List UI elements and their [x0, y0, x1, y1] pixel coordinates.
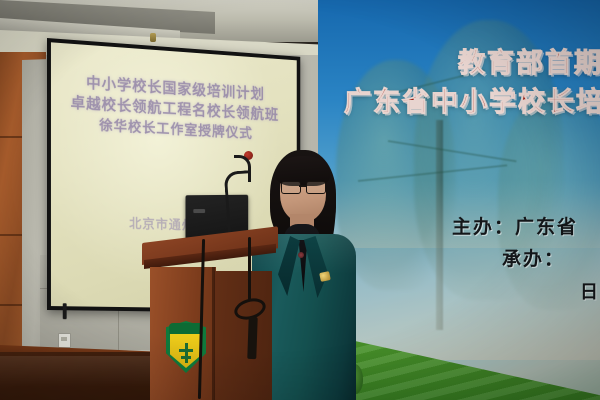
banner-organizer-line-3: 日: [318, 277, 600, 308]
lectern-side-panel: [214, 271, 272, 400]
banner-title-line-1: 教育部首期: [318, 44, 600, 83]
laptop-logo-icon: [193, 209, 205, 213]
wall-outlet[interactable]: [58, 333, 71, 348]
ceiling-sprinkler-icon: [150, 33, 156, 42]
banner-organizer-line-1: 主办：广东省: [318, 212, 600, 244]
cable: [248, 237, 251, 301]
banner-title-line-2: 广东省中小学校长培: [318, 83, 600, 122]
crest-emblem-icon: [179, 343, 193, 363]
banner-organizer-block: 主办：广东省 承办： 日: [318, 212, 600, 307]
lectern-corner-edge: [212, 267, 215, 400]
screen-pull-handle[interactable]: [63, 303, 67, 319]
lectern: [148, 243, 272, 400]
cable-connector: [247, 317, 257, 359]
necklace: [298, 252, 304, 258]
crest-banner: [169, 323, 203, 334]
banner-organizer-line-2: 承办：: [318, 244, 600, 276]
banner-title-block: 教育部首期 广东省中小学校长培: [318, 44, 600, 122]
conference-photo-scene: 中小学校长国家级培训计划 卓越校长领航工程名校长领航班 徐华校长工作室授牌仪式 …: [0, 0, 600, 400]
glasses-icon: [281, 181, 326, 193]
event-banner: 教育部首期 广东省中小学校长培 主办：广东省 承办： 日: [318, 0, 600, 400]
